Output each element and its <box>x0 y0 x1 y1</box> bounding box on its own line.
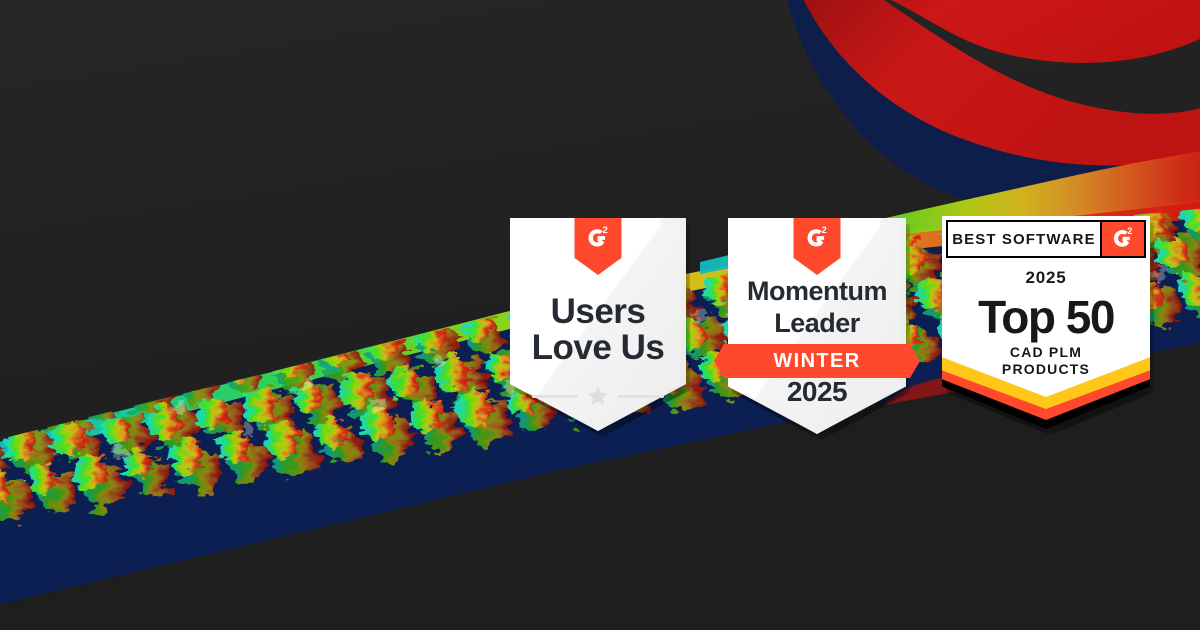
badge-category-line-1: CAD PLM <box>942 344 1150 361</box>
badge-users-love-us[interactable]: 2 Users Love Us <box>510 218 686 431</box>
g2-logo-icon: 2 <box>1110 226 1136 252</box>
g2-badges-group: 2 Users Love Us 2 <box>0 0 1200 630</box>
badge-title-line-1: Users <box>510 294 686 330</box>
winter-ribbon: WINTER <box>714 344 920 378</box>
badge-header-label: BEST SOFTWARE <box>948 222 1100 256</box>
badge-header-bar: BEST SOFTWARE 2 <box>946 220 1146 258</box>
star-divider <box>510 386 686 407</box>
g2-logo-icon: 2 <box>804 225 831 252</box>
star-icon <box>587 386 609 407</box>
badge-momentum-leader[interactable]: 2 Momentum Leader 2025 <box>728 218 906 434</box>
svg-text:2: 2 <box>1127 226 1132 236</box>
badge-year: 2025 <box>942 268 1150 288</box>
g2-logo-box: 2 <box>1100 222 1144 256</box>
badge-year: 2025 <box>728 378 906 407</box>
svg-text:2: 2 <box>603 225 608 235</box>
divider-line-left <box>532 395 578 398</box>
badge-title: Top 50 <box>942 290 1150 344</box>
badge-category: CAD PLM PRODUCTS <box>942 344 1150 378</box>
badge-category-line-2: PRODUCTS <box>942 361 1150 378</box>
svg-text:2: 2 <box>822 225 827 235</box>
badge-title-line-1: Momentum <box>728 278 906 306</box>
g2-logo-icon: 2 <box>585 225 612 252</box>
banner-canvas: 2 Users Love Us 2 <box>0 0 1200 630</box>
badge-best-software-top-50[interactable]: BEST SOFTWARE 2 2025 Top 50 CAD PLM PROD… <box>942 216 1150 429</box>
divider-line-right <box>618 395 664 398</box>
badge-title-line-2: Leader <box>728 310 906 338</box>
badge-title-line-2: Love Us <box>510 330 686 366</box>
